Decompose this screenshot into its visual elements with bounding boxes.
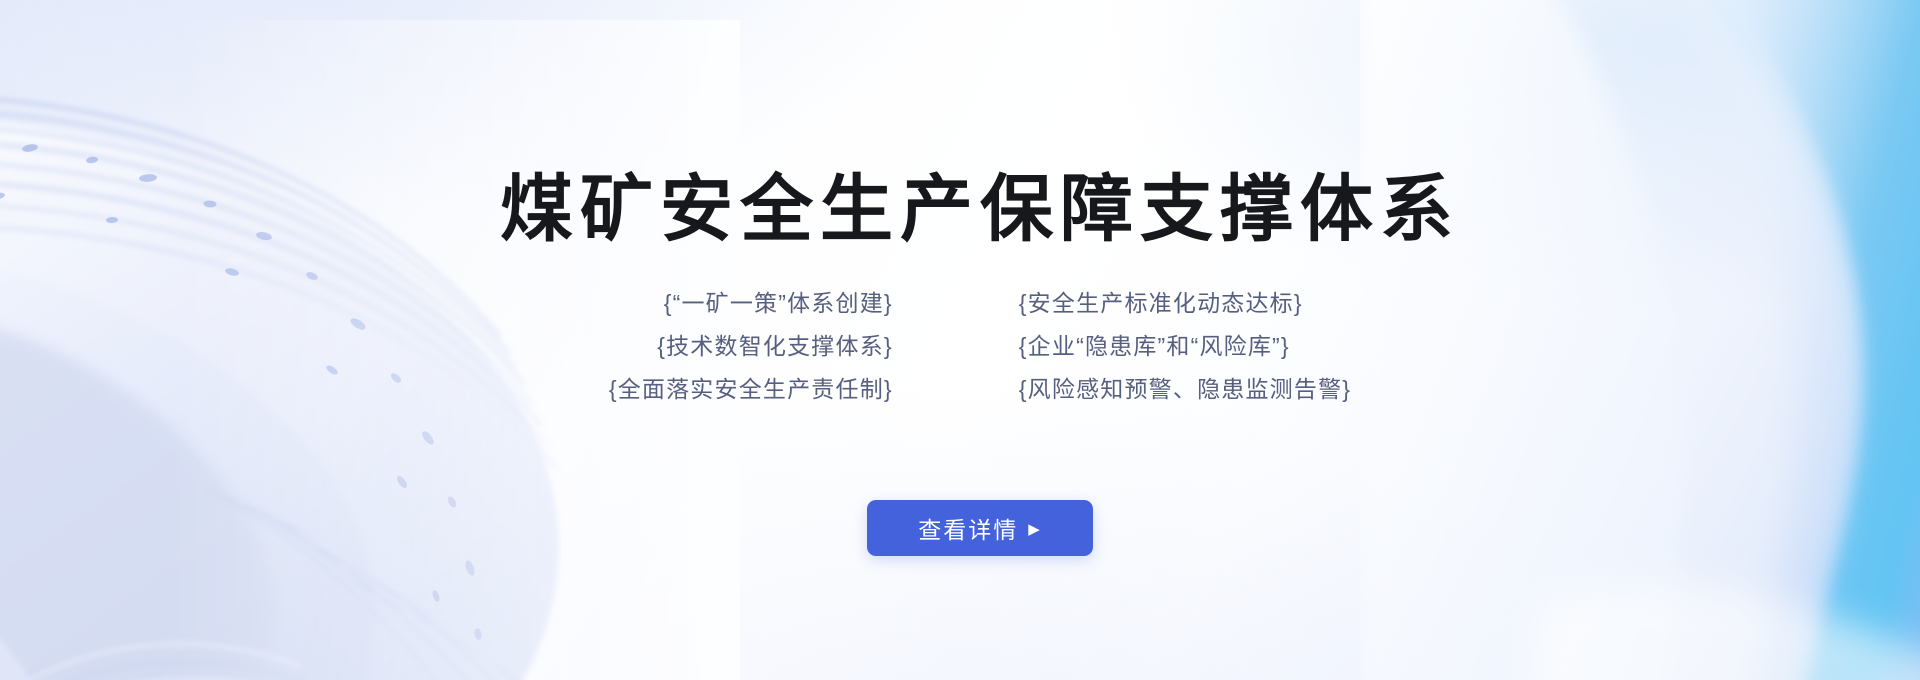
- cta-label: 查看详情: [918, 511, 1018, 545]
- cta-container: 查看详情 ▶: [0, 500, 1920, 556]
- hero-banner: 煤矿安全生产保障支撑体系 {“一矿一策”体系创建} {技术数智化支撑体系} {全…: [0, 0, 1920, 680]
- subtitle-item: {“一矿一策”体系创建}: [664, 292, 893, 315]
- arrow-right-icon: ▶: [1028, 522, 1042, 537]
- subtitle-column-right: {安全生产标准化动态达标} {企业“隐患库”和“风险库”} {风险感知预警、隐患…: [1019, 292, 1351, 401]
- banner-content: 煤矿安全生产保障支撑体系 {“一矿一策”体系创建} {技术数智化支撑体系} {全…: [0, 0, 1920, 680]
- subtitle-item: {企业“隐患库”和“风险库”}: [1019, 335, 1290, 358]
- page-title: 煤矿安全生产保障支撑体系: [0, 171, 1920, 250]
- view-details-button[interactable]: 查看详情 ▶: [867, 500, 1093, 556]
- subtitle-columns: {“一矿一策”体系创建} {技术数智化支撑体系} {全面落实安全生产责任制} {…: [0, 292, 1920, 401]
- subtitle-column-left: {“一矿一策”体系创建} {技术数智化支撑体系} {全面落实安全生产责任制}: [609, 292, 893, 401]
- subtitle-item: {安全生产标准化动态达标}: [1019, 292, 1303, 315]
- subtitle-item: {全面落实安全生产责任制}: [609, 378, 893, 401]
- subtitle-item: {技术数智化支撑体系}: [657, 335, 893, 358]
- subtitle-item: {风险感知预警、隐患监测告警}: [1019, 378, 1351, 401]
